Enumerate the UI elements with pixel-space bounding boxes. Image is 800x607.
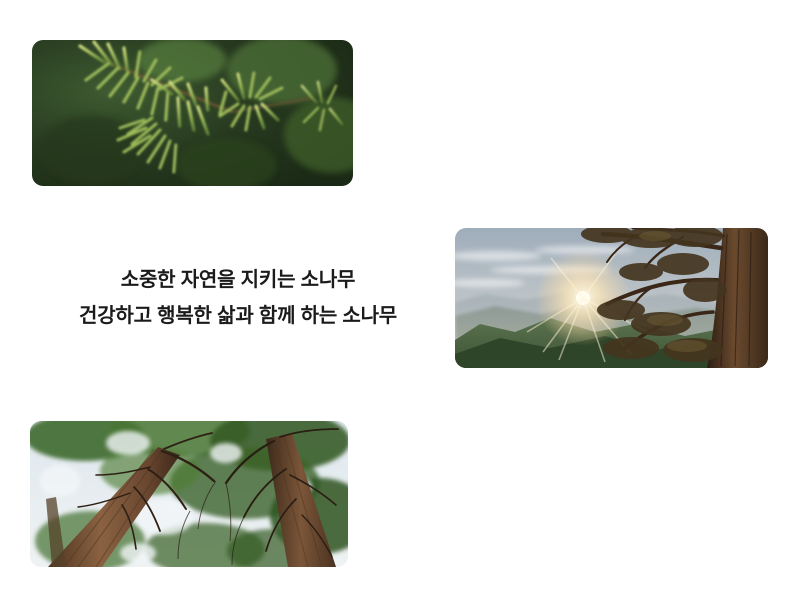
section-longevity: 십장생(十長生) 중 하나인 소나무 건강한 삶,장수의 상징 소나무 [0, 421, 800, 567]
caption-line-2: 건강하고 행복한 삶과 함께 하는 소나무 [38, 298, 438, 334]
pine-canopy-upward-photo [30, 421, 348, 567]
caption-line-1: 소중한 자연을 지키는 소나무 [38, 262, 438, 298]
caption-evergreen: 1년, 365일 4계절 내내 늘 푸른빛을 유지하는 소나무 [753, 77, 800, 149]
caption-line-2: 늘 푸른빛을 유지하는 소나무 [753, 113, 800, 149]
section-evergreen: 1년, 365일 4계절 내내 늘 푸른빛을 유지하는 소나무 [0, 40, 800, 186]
section-nature: 소중한 자연을 지키는 소나무 건강하고 행복한 삶과 함께 하는 소나무 [0, 228, 800, 368]
caption-longevity: 십장생(十長生) 중 하나인 소나무 건강한 삶,장수의 상징 소나무 [743, 458, 800, 530]
poster-canvas: 1년, 365일 4계절 내내 늘 푸른빛을 유지하는 소나무 소중한 자연을 … [0, 0, 800, 607]
pine-needles-closeup-photo [32, 40, 353, 186]
caption-line-2: 건강한 삶,장수의 상징 소나무 [743, 494, 800, 530]
sunrise-pine-mountain-photo [455, 228, 768, 368]
caption-nature: 소중한 자연을 지키는 소나무 건강하고 행복한 삶과 함께 하는 소나무 [38, 262, 438, 334]
caption-line-1: 십장생(十長生) 중 하나인 소나무 [743, 458, 800, 494]
caption-line-1: 1년, 365일 4계절 내내 [753, 77, 800, 113]
